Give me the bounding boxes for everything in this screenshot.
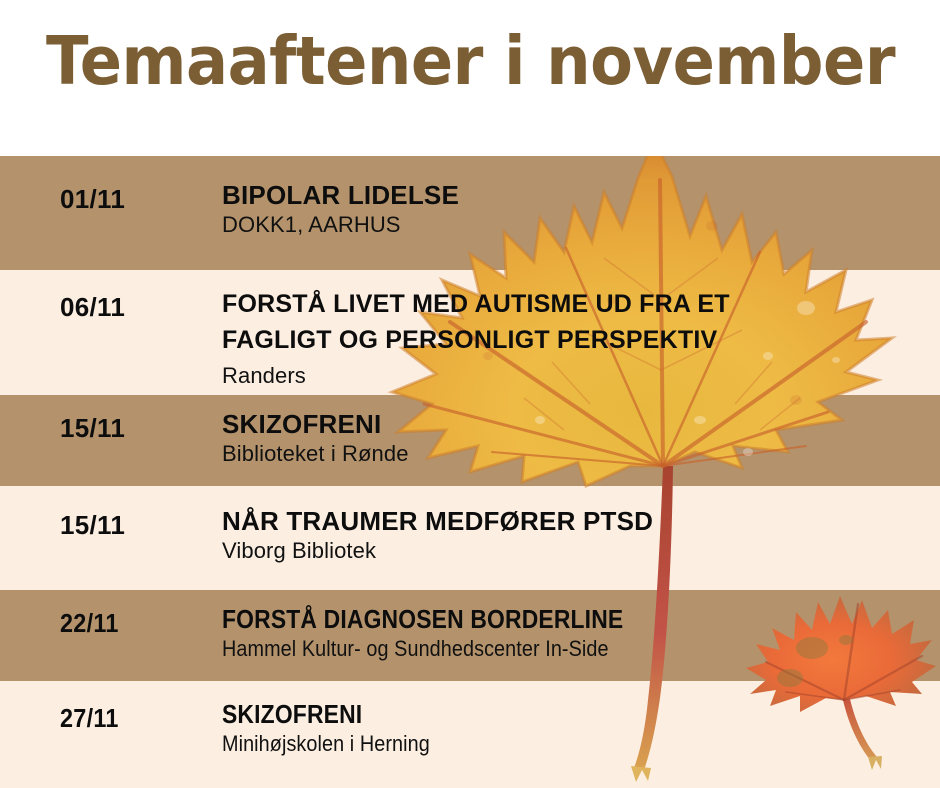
list-item: 27/11 SKIZOFRENI Minihøjskolen i Herning (0, 681, 940, 788)
page-title: Temaaftener i november (46, 24, 846, 98)
event-date: 15/11 (60, 510, 125, 540)
list-item: 06/11 FORSTÅ LIVET MED AUTISME UD FRA ET… (0, 270, 940, 395)
event-venue: Randers (222, 362, 922, 389)
event-info: FORSTÅ DIAGNOSEN BORDERLINE Hammel Kultu… (222, 604, 922, 662)
event-date: 06/11 (60, 292, 125, 322)
event-info: FORSTÅ LIVET MED AUTISME UD FRA ET FAGLI… (222, 286, 922, 389)
event-info: SKIZOFRENI Minihøjskolen i Herning (222, 699, 922, 757)
poster-header: Temaaftener i november (0, 0, 940, 156)
event-info: NÅR TRAUMER MEDFØRER PTSD Viborg Bibliot… (222, 506, 922, 564)
event-venue: Viborg Bibliotek (222, 537, 922, 564)
event-list: 01/11 BIPOLAR LIDELSE DOKK1, AARHUS 06/1… (0, 156, 940, 788)
event-venue: DOKK1, AARHUS (222, 211, 922, 238)
list-item: 15/11 NÅR TRAUMER MEDFØRER PTSD Viborg B… (0, 486, 940, 590)
poster: Temaaftener i november 01/11 BIPOLAR LID… (0, 0, 940, 788)
event-title: SKIZOFRENI (222, 699, 838, 730)
event-date: 22/11 (60, 608, 119, 638)
event-title: FORSTÅ DIAGNOSEN BORDERLINE (222, 604, 838, 635)
event-venue: Minihøjskolen i Herning (222, 730, 852, 757)
event-info: SKIZOFRENI Biblioteket i Rønde (222, 409, 922, 467)
event-title: BIPOLAR LIDELSE (222, 180, 922, 211)
event-info: BIPOLAR LIDELSE DOKK1, AARHUS (222, 180, 922, 238)
event-date: 15/11 (60, 413, 125, 443)
event-venue: Hammel Kultur- og Sundhedscenter In-Side (222, 635, 852, 662)
event-venue: Biblioteket i Rønde (222, 440, 922, 467)
event-title: NÅR TRAUMER MEDFØRER PTSD (222, 506, 922, 537)
event-title: SKIZOFRENI (222, 409, 922, 440)
event-date: 01/11 (60, 184, 125, 214)
event-date: 27/11 (60, 703, 119, 733)
event-title-line1: FORSTÅ LIVET MED AUTISME UD FRA ET (222, 286, 922, 322)
list-item: 01/11 BIPOLAR LIDELSE DOKK1, AARHUS (0, 156, 940, 270)
list-item: 22/11 FORSTÅ DIAGNOSEN BORDERLINE Hammel… (0, 590, 940, 681)
list-item: 15/11 SKIZOFRENI Biblioteket i Rønde (0, 395, 940, 486)
event-title-line2: FAGLIGT OG PERSONLIGT PERSPEKTIV (222, 322, 922, 358)
